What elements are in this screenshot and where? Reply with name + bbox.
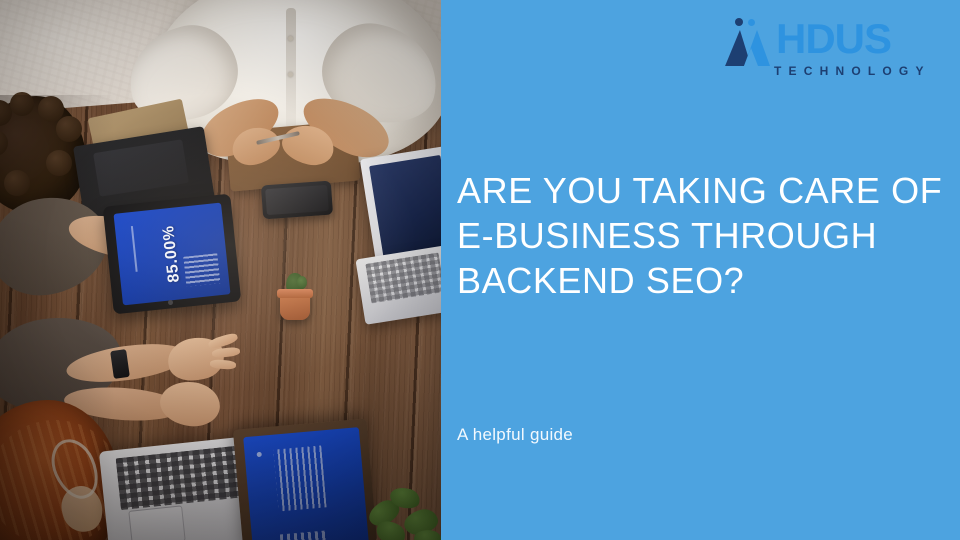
ahdus-a-mark-icon <box>724 18 776 66</box>
umlaut-dot-right-icon <box>748 19 755 26</box>
marketing-banner: 85.00% <box>0 0 960 540</box>
shirt-button <box>288 36 293 41</box>
logo-wordmark: HDUS <box>776 14 891 64</box>
page-subtitle: A helpful guide <box>457 425 573 445</box>
ahdus-technology-logo[interactable]: HDUS TECHNOLOGY <box>724 14 942 88</box>
logo-tagline: TECHNOLOGY <box>774 63 931 79</box>
shirt-button <box>288 72 293 77</box>
umlaut-dot-left-icon <box>735 18 743 26</box>
content-panel: HDUS TECHNOLOGY ARE YOU TAKING CARE OF E… <box>441 0 960 540</box>
team-meeting-photo: 85.00% <box>0 0 441 540</box>
page-title: ARE YOU TAKING CARE OF E-BUSINESS THROUG… <box>457 168 949 303</box>
table-lighting-overlay <box>0 95 441 540</box>
